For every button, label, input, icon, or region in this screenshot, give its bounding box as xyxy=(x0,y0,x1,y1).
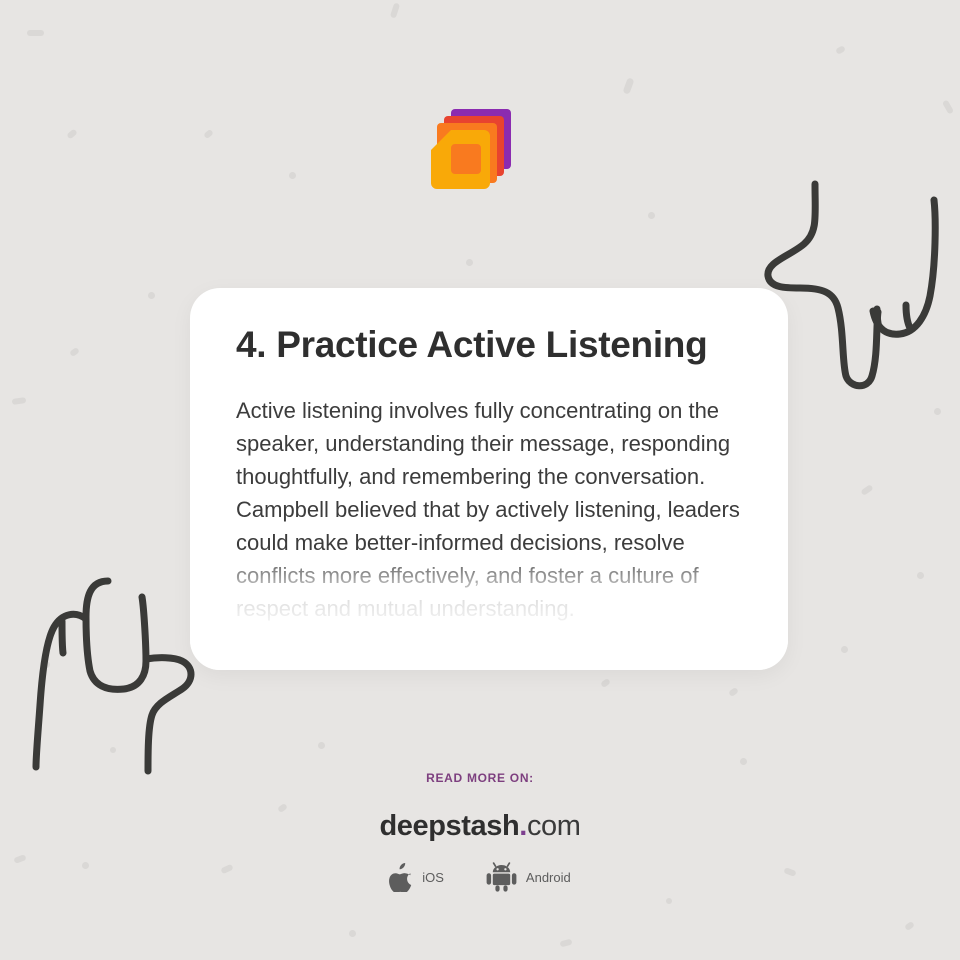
speckle xyxy=(904,921,915,931)
ios-label: iOS xyxy=(422,870,444,885)
speckle xyxy=(559,939,572,948)
card-title: 4. Practice Active Listening xyxy=(236,322,742,368)
speckle xyxy=(148,292,155,299)
speckle xyxy=(740,758,747,765)
wordmark-tld: com xyxy=(527,810,581,842)
speckle xyxy=(835,45,846,55)
deepstash-logo xyxy=(425,100,525,200)
speckle xyxy=(318,742,325,749)
speckle xyxy=(622,77,634,94)
speckle xyxy=(666,898,672,904)
speckle xyxy=(934,408,941,415)
speckle xyxy=(860,484,873,496)
speckle xyxy=(600,678,611,688)
poster-canvas: 4. Practice Active Listening Active list… xyxy=(0,0,960,960)
android-store-link[interactable]: Android xyxy=(486,862,571,892)
speckle xyxy=(203,129,214,139)
idea-card: 4. Practice Active Listening Active list… xyxy=(190,288,788,670)
wordmark-dot: . xyxy=(519,810,527,842)
read-more-label: READ MORE ON: xyxy=(0,771,960,785)
wordmark-name: deepstash xyxy=(379,810,519,842)
speckle xyxy=(349,930,356,937)
speckle xyxy=(942,99,954,114)
speckle xyxy=(69,347,80,357)
speckle xyxy=(289,172,296,179)
ios-store-link[interactable]: iOS xyxy=(389,863,444,892)
speckle xyxy=(728,687,739,697)
speckle xyxy=(841,646,848,653)
speckle xyxy=(27,30,44,36)
speckle xyxy=(390,2,400,18)
speckle xyxy=(466,259,473,266)
android-label: Android xyxy=(526,870,571,885)
card-body-text: Active listening involves fully concentr… xyxy=(236,394,742,625)
hand-doodle-top-right xyxy=(760,176,950,398)
apple-icon xyxy=(389,863,413,892)
hand-doodle-bottom-left xyxy=(28,565,208,780)
speckle xyxy=(66,128,78,139)
app-store-badges: iOS Android xyxy=(0,862,960,892)
speckle xyxy=(12,397,27,405)
deepstash-wordmark[interactable]: deepstash.com xyxy=(0,810,960,843)
card-content: 4. Practice Active Listening Active list… xyxy=(190,288,788,625)
speckle xyxy=(917,572,924,579)
android-icon xyxy=(486,862,517,892)
speckle xyxy=(648,212,655,219)
